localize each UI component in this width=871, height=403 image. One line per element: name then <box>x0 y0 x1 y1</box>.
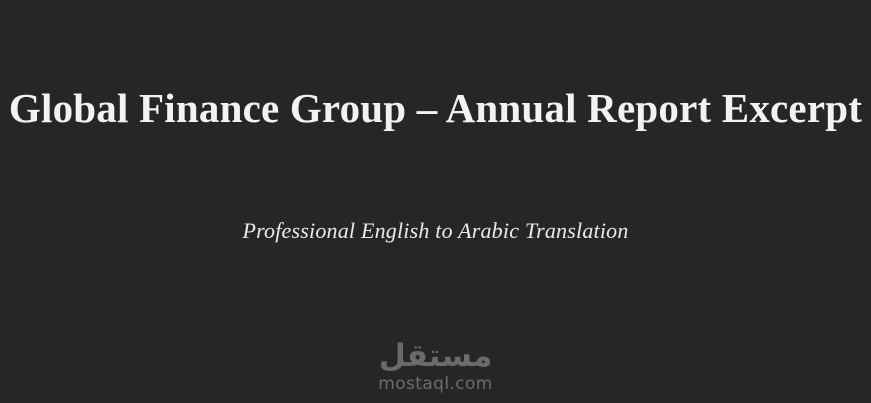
page-subtitle: Professional English to Arabic Translati… <box>242 217 628 245</box>
watermark-logo: مستقل mostaql.com <box>378 340 493 394</box>
slide-canvas: Global Finance Group – Annual Report Exc… <box>0 0 871 403</box>
subtitle-block: Professional English to Arabic Translati… <box>0 217 871 245</box>
page-title: Global Finance Group – Annual Report Exc… <box>9 84 862 132</box>
title-block: Global Finance Group – Annual Report Exc… <box>0 84 871 132</box>
watermark: مستقل mostaql.com <box>0 340 871 394</box>
mostaql-arabic-wordmark-icon: مستقل <box>378 340 493 374</box>
watermark-domain-label: mostaql.com <box>378 375 493 394</box>
